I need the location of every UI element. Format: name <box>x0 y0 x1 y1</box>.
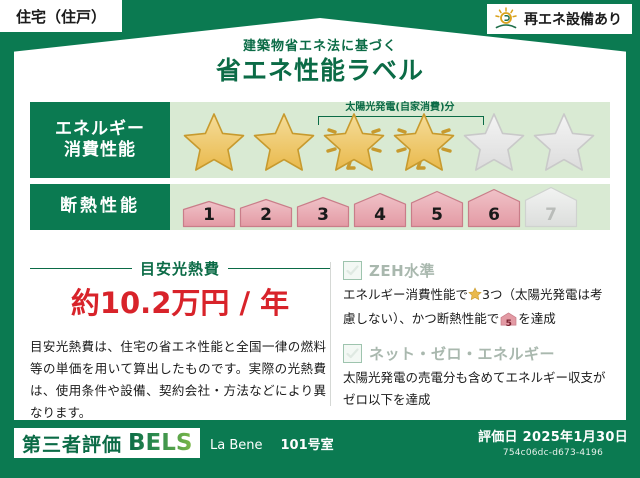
star-filled <box>390 107 458 173</box>
lower-section: 目安光熱費 約10.2万円 / 年 目安光熱費は、住宅の省エネ性能と全国一律の燃… <box>30 258 612 410</box>
star-filled <box>180 107 248 173</box>
insulation-level-active: 4 <box>353 192 407 228</box>
mini-house-number: 5 <box>500 317 517 333</box>
housing-type-tag: 住宅（住戸） <box>0 0 122 32</box>
renewable-equipment-badge: 再エネ設備あり <box>487 4 632 34</box>
insulation-level-number: 7 <box>524 205 578 225</box>
star-empty <box>460 107 528 173</box>
cost-heading-label: 目安光熱費 <box>140 258 220 279</box>
criterion-net-zero-body: 太陽光発電の売電分も含めてエネルギー収支がゼロ以下を達成 <box>343 367 612 411</box>
insulation-level-number: 6 <box>467 205 521 225</box>
cost-value: 約10.2万円 / 年 <box>30 289 330 318</box>
insulation-level-active: 6 <box>467 188 521 228</box>
insulation-level-active: 2 <box>239 198 293 228</box>
label-root: 住宅（住戸） 再エネ設備あり 建築物省エネ法に基づく 省エネ性能ラベル <box>0 0 640 478</box>
mini-star-icon <box>468 286 482 308</box>
criterion-zeh-body: エネルギー消費性能で3つ（太陽光発電は考慮しない）、かつ断熱性能で5を達成 <box>343 284 612 333</box>
insulation-level-number: 5 <box>410 205 464 225</box>
cost-heading-rule-right <box>228 268 330 270</box>
checkbox-unchecked-icon <box>343 261 362 280</box>
property-name: La Bene <box>210 438 263 453</box>
energy-performance-row: エネルギー 消費性能 太陽光発電(自家消費)分 <box>30 102 610 178</box>
insulation-level-active: 3 <box>296 196 350 228</box>
star-filled <box>320 107 388 173</box>
criterion-zeh-text-after: を達成 <box>518 311 556 326</box>
cost-heading: 目安光熱費 <box>30 258 330 279</box>
criterion-net-zero-title: ネット・ゼロ・エネルギー <box>369 343 555 364</box>
footer-bar: 第三者評価 BELS La Bene 101号室 評価日 2025年1月30日 … <box>0 420 640 478</box>
energy-performance-body: 太陽光発電(自家消費)分 <box>170 102 610 178</box>
star-filled <box>250 107 318 173</box>
insulation-level-inactive: 7 <box>524 186 578 228</box>
property-room: 101号室 <box>281 434 334 453</box>
renewable-badge-label: 再エネ設備あり <box>524 9 622 29</box>
insulation-level-active: 5 <box>410 190 464 228</box>
insulation-performance-row: 断熱性能 1234567 <box>30 184 610 230</box>
criterion-net-zero: ネット・ゼロ・エネルギー 太陽光発電の売電分も含めてエネルギー収支がゼロ以下を達… <box>343 343 612 411</box>
insulation-level-number: 2 <box>239 205 293 225</box>
insulation-level-number: 1 <box>182 205 236 225</box>
cost-description: 目安光熱費は、住宅の省エネ性能と全国一律の燃料等の単価を用いて算出したものです。… <box>30 336 330 424</box>
evaluation-info: 評価日 2025年1月30日 754c06dc-d673-4196 <box>478 426 628 458</box>
evaluation-id: 754c06dc-d673-4196 <box>478 448 628 458</box>
mini-house-badge: 5 <box>500 311 517 333</box>
criterion-zeh-title: ZEH水準 <box>369 260 435 281</box>
insulation-level-number: 4 <box>353 205 407 225</box>
criterion-zeh-header: ZEH水準 <box>343 260 612 281</box>
cost-heading-rule-left <box>30 268 132 270</box>
checkbox-unchecked-icon <box>343 344 362 363</box>
sun-icon <box>493 7 519 31</box>
criteria-panel: ZEH水準 エネルギー消費性能で3つ（太陽光発電は考慮しない）、かつ断熱性能で5… <box>343 258 612 410</box>
bels-jp-label: 第三者評価 <box>22 430 122 457</box>
criterion-net-zero-header: ネット・ゼロ・エネルギー <box>343 343 612 364</box>
criterion-zeh: ZEH水準 エネルギー消費性能で3つ（太陽光発電は考慮しない）、かつ断熱性能で5… <box>343 260 612 333</box>
bels-logo: 第三者評価 BELS <box>14 428 200 458</box>
performance-section: エネルギー 消費性能 太陽光発電(自家消費)分 断熱性能 1234567 <box>30 102 610 230</box>
vertical-divider <box>330 262 331 406</box>
cost-panel: 目安光熱費 約10.2万円 / 年 目安光熱費は、住宅の省エネ性能と全国一律の燃… <box>30 258 330 410</box>
insulation-performance-body: 1234567 <box>170 184 610 230</box>
criterion-zeh-text-before: エネルギー消費性能で <box>343 287 468 302</box>
insulation-level-active: 1 <box>182 200 236 228</box>
insulation-performance-label: 断熱性能 <box>30 184 170 230</box>
housing-type-label: 住宅（住戸） <box>16 6 106 27</box>
insulation-level-number: 3 <box>296 205 350 225</box>
star-empty <box>530 107 598 173</box>
insulation-scale: 1234567 <box>170 186 578 228</box>
bels-en-label: BELS <box>128 430 192 456</box>
energy-performance-label: エネルギー 消費性能 <box>30 102 170 178</box>
property-info: La Bene 101号室 <box>210 434 334 453</box>
star-rating <box>170 107 598 173</box>
evaluation-date: 評価日 2025年1月30日 <box>478 426 628 445</box>
